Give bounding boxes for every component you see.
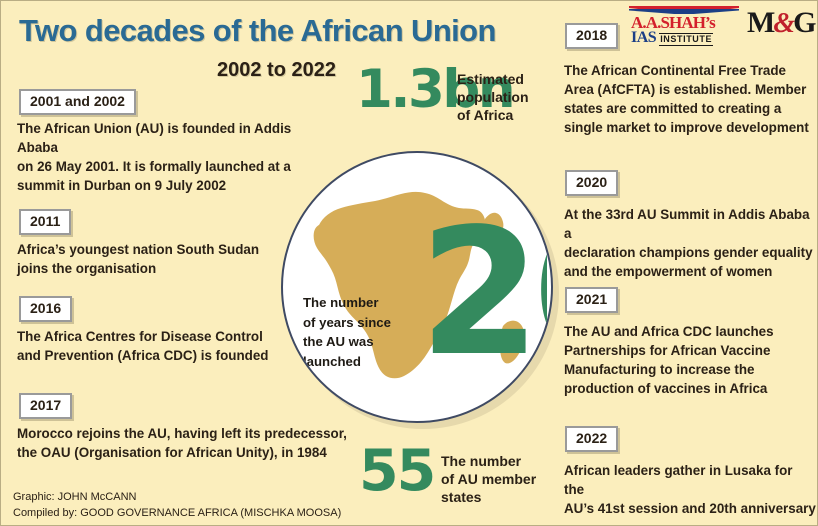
- page-subtitle: 2002 to 2022: [217, 59, 336, 82]
- africa-circle: 20 The number of years since the AU was …: [281, 151, 553, 423]
- event-text-2016: The Africa Centres for Disease Control a…: [17, 327, 307, 365]
- stat-members-label: The number of AU member states: [441, 453, 536, 506]
- shah-ias-line: IAS INSTITUTE: [631, 30, 713, 46]
- event-text-2001-2002: The African Union (AU) is founded in Add…: [17, 119, 307, 195]
- shah-ias-text: IAS: [631, 30, 656, 46]
- year-badge-2017: 2017: [19, 393, 72, 419]
- mg-logo: M&G: [747, 8, 814, 38]
- event-text-2017: Morocco rejoins the AU, having left its …: [17, 424, 347, 462]
- event-text-2011: Africa’s youngest nation South Sudan joi…: [17, 240, 307, 278]
- shah-institute-text: INSTITUTE: [659, 33, 713, 46]
- year-badge-2021: 2021: [565, 287, 618, 313]
- event-text-2018: The African Continental Free Trade Area …: [564, 61, 814, 137]
- credits: Graphic: JOHN McCANN Compiled by: GOOD G…: [13, 489, 341, 522]
- stat-population-label: Estimated population of Africa: [457, 71, 529, 124]
- event-text-2021: The AU and Africa CDC launches Partnersh…: [564, 322, 814, 398]
- year-badge-2022: 2022: [565, 426, 618, 452]
- year-badge-2018: 2018: [565, 23, 618, 49]
- big-number-20-text: 20: [419, 192, 547, 395]
- stat-members-value: 55: [359, 443, 434, 500]
- year-badge-2011: 2011: [19, 209, 71, 235]
- mg-letter-m: M: [747, 6, 773, 39]
- event-text-2022: African leaders gather in Lusaka for the…: [564, 461, 816, 518]
- mg-letter-g: G: [793, 6, 814, 39]
- africa-map: 20: [289, 163, 547, 415]
- aashah-ias-institute-logo: A.A.SHAH’s IAS INSTITUTE: [629, 5, 739, 45]
- page-title: Two decades of the African Union: [19, 13, 496, 49]
- circle-caption: The number of years since the AU was lau…: [303, 293, 391, 371]
- event-text-2020: At the 33rd AU Summit in Addis Ababa a d…: [564, 205, 814, 281]
- year-badge-2016: 2016: [19, 296, 72, 322]
- mg-ampersand: &: [773, 8, 793, 39]
- year-badge-2001-2002: 2001 and 2002: [19, 89, 136, 115]
- year-badge-2020: 2020: [565, 170, 618, 196]
- infographic-canvas: Two decades of the African Union 2002 to…: [0, 0, 818, 526]
